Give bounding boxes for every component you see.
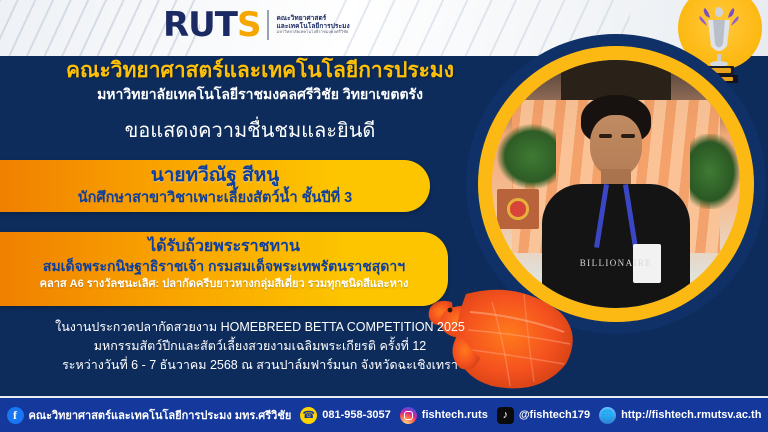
awardee-program: นักศึกษาสาขาวิชาเพาะเลี้ยงสัตว์น้ำ ชั้นป… bbox=[0, 188, 430, 208]
phone-label: 081-958-3057 bbox=[322, 409, 391, 421]
university-name: มหาวิทยาลัยเทคโนโลยีราชมงคลศรีวิชัย วิทย… bbox=[0, 84, 520, 104]
event-line2: มหกรรมสัตว์ปีกและสัตว์เลี้ยงสวยงามเฉลิมพ… bbox=[0, 337, 520, 356]
logo-thai-line3: มหาวิทยาลัยเทคโนโลยีราชมงคลศรีวิชัย bbox=[276, 30, 349, 35]
photo-brow-right bbox=[621, 134, 635, 137]
photo-fern-right bbox=[690, 134, 740, 208]
footer-facebook[interactable]: f คณะวิทยาศาสตร์และเทคโนโลยีการประมง มทร… bbox=[7, 406, 292, 424]
event-line1: ในงานประกวดปลากัดสวยงาม HOMEBREED BETTA … bbox=[0, 318, 520, 337]
faculty-name: คณะวิทยาศาสตร์และเทคโนโลยีการประมง bbox=[0, 58, 520, 84]
globe-icon: 🌐 bbox=[599, 407, 616, 424]
ruts-logo: RUTS คณะวิทยาศาสตร์ และเทคโนโลยีการประมง… bbox=[163, 8, 350, 42]
footer-instagram[interactable]: fishtech.ruts bbox=[400, 407, 488, 424]
congratulation-poster: RUTS คณะวิทยาศาสตร์ และเทคโนโลยีการประมง… bbox=[0, 0, 768, 432]
ruts-wordmark: RUTS bbox=[163, 8, 260, 42]
congratulation-text: ขอแสดงความชื่นชมและยินดี bbox=[0, 118, 500, 144]
photo-shirt-text: BILLIONAIRE bbox=[566, 258, 665, 268]
facebook-label: คณะวิทยาศาสตร์และเทคโนโลยีการประมง มทร.ศ… bbox=[29, 406, 292, 424]
award-line2: สมเด็จพระกนิษฐาธิราชเจ้า กรมสมเด็จพระเทพ… bbox=[0, 257, 448, 276]
awardee-photo: BILLIONAIRE bbox=[492, 60, 740, 308]
photo-face bbox=[590, 115, 642, 177]
website-label: http://fishtech.rmutsv.ac.th bbox=[621, 409, 761, 421]
footer-website[interactable]: 🌐 http://fishtech.rmutsv.ac.th bbox=[599, 407, 761, 424]
ruts-wordmark-nv: RUT bbox=[163, 5, 237, 45]
logo-thai-line1: คณะวิทยาศาสตร์ bbox=[276, 15, 349, 22]
instagram-icon bbox=[400, 407, 417, 424]
event-line3: ระหว่างวันที่ 6 - 7 ธันวาคม 2568 ณ สวนปา… bbox=[0, 356, 520, 375]
ruts-wordmark-gd: S bbox=[237, 5, 261, 45]
logo-thai-text: คณะวิทยาศาสตร์ และเทคโนโลยีการประมง มหาว… bbox=[276, 15, 349, 35]
facebook-icon: f bbox=[7, 407, 24, 424]
photo-brow-left bbox=[599, 134, 613, 137]
footer-contact-bar: f คณะวิทยาศาสตร์และเทคโนโลยีการประมง มทร… bbox=[0, 398, 768, 432]
photo-dark-top bbox=[561, 60, 670, 100]
tiktok-icon: ♪ bbox=[497, 407, 514, 424]
faculty-title-block: คณะวิทยาศาสตร์และเทคโนโลยีการประมง มหาวิ… bbox=[0, 58, 520, 104]
tiktok-label: @fishtech179 bbox=[519, 409, 590, 421]
awardee-banner: นายทวีณัฐ สีหนู นักศึกษาสาขาวิชาเพาะเลี้… bbox=[0, 160, 430, 212]
award-line3: คลาส A6 รางวัลชนะเลิศ: ปลากัดครีบยาวหางก… bbox=[0, 276, 448, 292]
event-details: ในงานประกวดปลากัดสวยงาม HOMEBREED BETTA … bbox=[0, 318, 520, 375]
logo-divider bbox=[267, 10, 269, 40]
award-banner: ได้รับถ้วยพระราชทาน สมเด็จพระกนิษฐาธิราช… bbox=[0, 232, 448, 306]
phone-icon: ☎ bbox=[300, 407, 317, 424]
instagram-label: fishtech.ruts bbox=[422, 409, 488, 421]
photo-fern-left bbox=[497, 124, 557, 188]
footer-phone[interactable]: ☎ 081-958-3057 bbox=[300, 407, 391, 424]
awardee-name: นายทวีณัฐ สีหนู bbox=[0, 160, 430, 188]
photo-flower-pot bbox=[497, 189, 539, 229]
footer-tiktok[interactable]: ♪ @fishtech179 bbox=[497, 407, 590, 424]
award-line1: ได้รับถ้วยพระราชทาน bbox=[0, 232, 448, 257]
